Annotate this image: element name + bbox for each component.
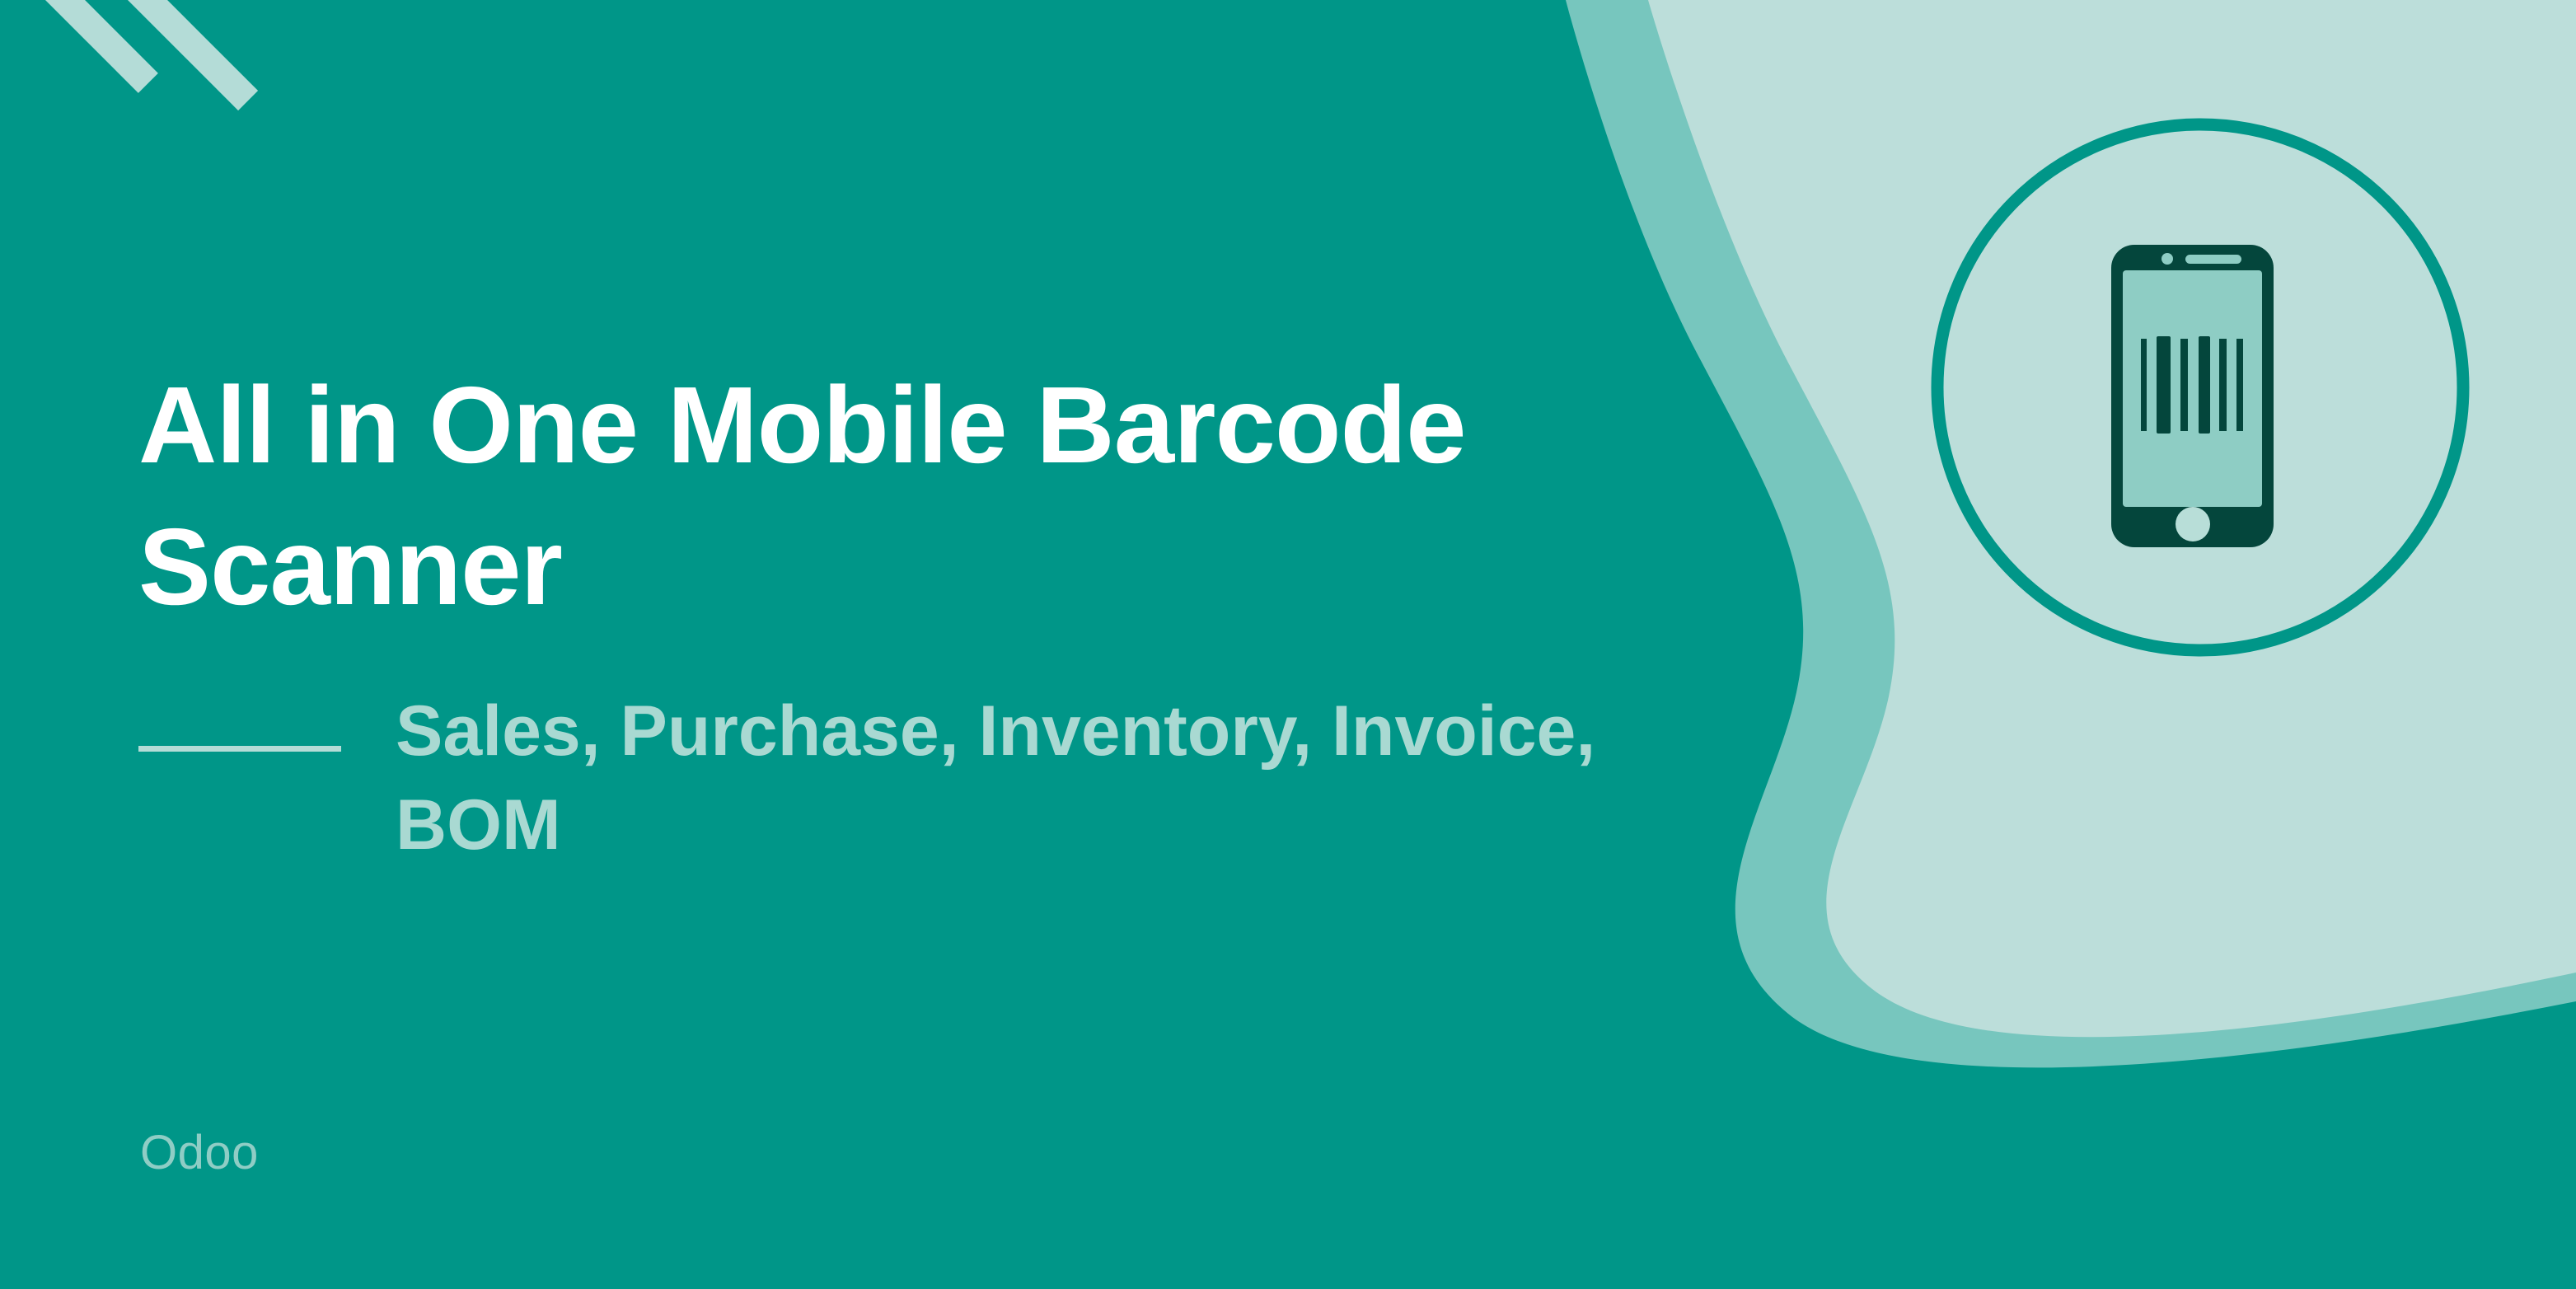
home-button-icon [2176, 507, 2210, 541]
earpiece-speaker-icon [2185, 255, 2241, 264]
page-title: All in One Mobile Barcode Scanner [138, 354, 1729, 637]
front-camera-dot-icon [2161, 253, 2173, 265]
subtitle-rule [138, 746, 341, 752]
subtitle-row: Sales, Purchase, Inventory, Invoice, BOM [138, 685, 1754, 872]
medallion-svg [1920, 107, 2480, 668]
headline-block: All in One Mobile Barcode Scanner Sales,… [138, 354, 1754, 872]
brand-label: Odoo [140, 1129, 259, 1177]
mobile-barcode-scanner-icon [1920, 107, 2480, 668]
page-subtitle: Sales, Purchase, Inventory, Invoice, BOM [396, 685, 1747, 872]
slide-canvas: All in One Mobile Barcode Scanner Sales,… [0, 0, 2576, 1289]
